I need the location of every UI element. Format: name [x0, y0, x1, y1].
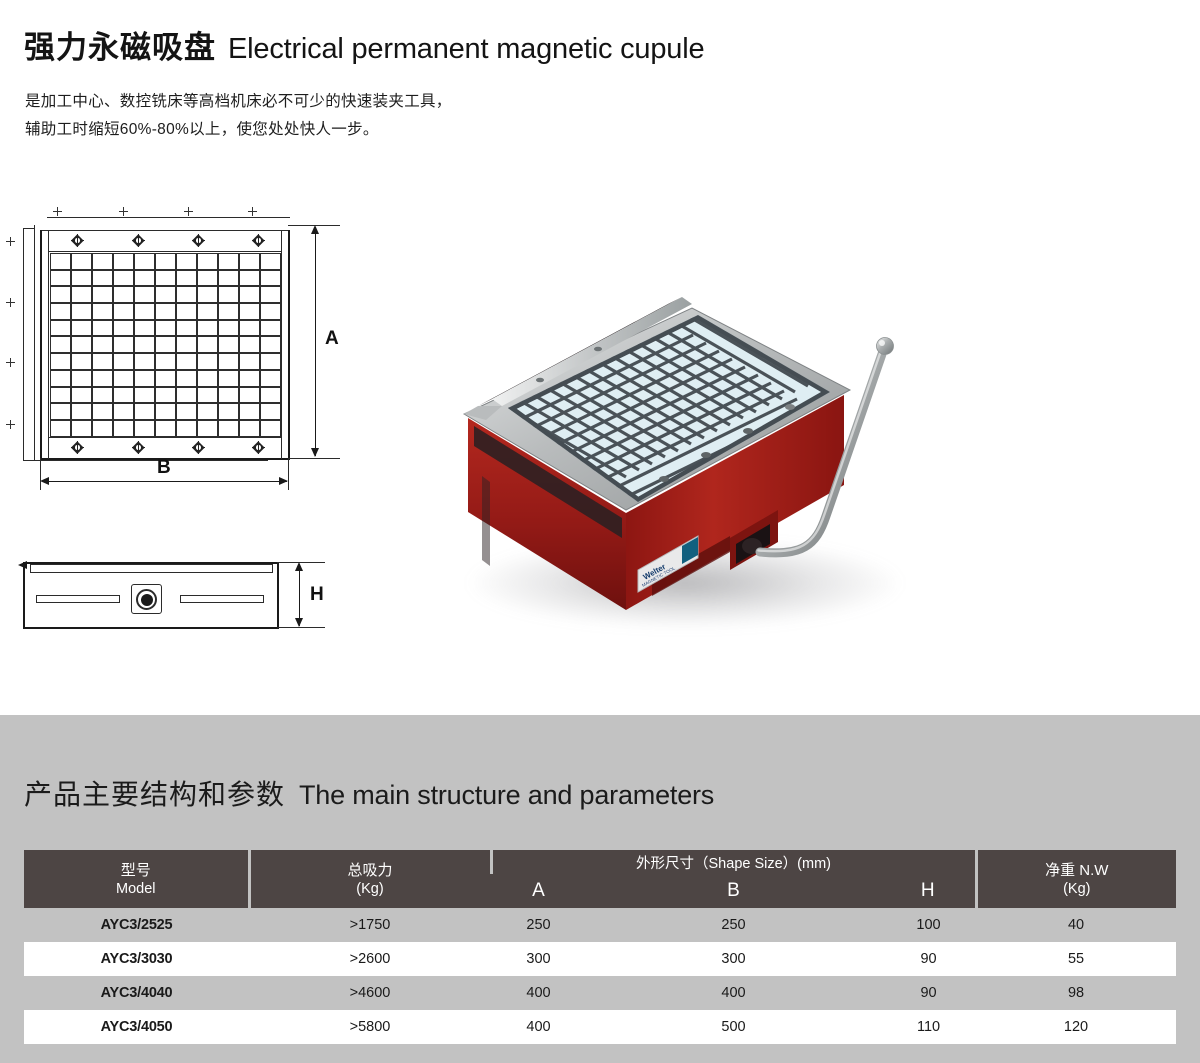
dimension-label-b: B: [157, 457, 171, 479]
page-subtitle: 是加工中心、数控铣床等高档机床必不可少的快速装夹工具， 辅助工时缩短60%-80…: [25, 88, 452, 144]
bolt-marker-icon: [252, 234, 265, 247]
header-model-cn: 型号: [24, 861, 248, 880]
parameters-section: 产品主要结构和参数The main structure and paramete…: [0, 715, 1200, 1063]
cell-force: >2600: [249, 942, 491, 976]
cell-force: >1750: [249, 908, 491, 942]
cell-dim-h: 100: [881, 908, 976, 942]
cell-dim-b: 300: [586, 942, 881, 976]
header-weight-cn: 净重 N.W: [978, 861, 1177, 880]
page-title: 强力永磁吸盘Electrical permanent magnetic cupu…: [24, 22, 704, 67]
dimension-arrow-up-icon: [295, 562, 303, 571]
bolt-marker-icon: [132, 234, 145, 247]
tick-marker-icon: [6, 358, 15, 367]
table-row: AYC3/2525 >1750 250 250 100 40: [24, 908, 1176, 942]
cell-force: >5800: [249, 1010, 491, 1044]
table-header-row: 型号 Model 总吸力 (Kg) 外形尺寸（Shape Size）(mm) 净…: [24, 850, 1176, 874]
cell-dim-b: 250: [586, 908, 881, 942]
bolt-marker-icon: [252, 441, 265, 454]
tick-marker-icon: [6, 420, 15, 429]
bolt-marker-icon: [192, 234, 205, 247]
dimension-label-a: A: [325, 328, 339, 350]
dimension-arrow-right-icon: [279, 477, 288, 485]
cell-dim-b: 500: [586, 1010, 881, 1044]
tick-marker-icon: [184, 207, 193, 216]
bolt-marker-icon: [71, 234, 84, 247]
header-model-en: Model: [24, 880, 248, 898]
tick-marker-icon: [6, 237, 15, 246]
side-view-pointer-icon: [18, 561, 27, 569]
cell-force: >4600: [249, 976, 491, 1010]
header-dim-a: A: [491, 874, 586, 908]
header-dim-h: H: [881, 874, 976, 908]
side-view-top-strip: [30, 564, 273, 573]
dimension-arrow-left-icon: [40, 477, 49, 485]
header-total-force: 总吸力 (Kg): [249, 850, 491, 908]
page-title-cn: 强力永磁吸盘: [24, 30, 216, 65]
pole-grid: [50, 253, 281, 437]
cell-model: AYC3/4040: [24, 976, 249, 1010]
tick-marker-icon: [248, 207, 257, 216]
cell-dim-b: 400: [586, 976, 881, 1010]
cell-model: AYC3/3030: [24, 942, 249, 976]
header-model: 型号 Model: [24, 850, 249, 908]
technical-drawing: A B H: [0, 195, 380, 665]
cell-model: AYC3/2525: [24, 908, 249, 942]
page-title-en: Electrical permanent magnetic cupule: [228, 33, 704, 65]
cell-dim-a: 300: [491, 942, 586, 976]
bolt-marker-icon: [71, 441, 84, 454]
cell-dim-a: 400: [491, 976, 586, 1010]
section-title: 产品主要结构和参数The main structure and paramete…: [24, 773, 714, 813]
cell-dim-a: 400: [491, 1010, 586, 1044]
table-body: AYC3/2525 >1750 250 250 100 40 AYC3/3030…: [24, 908, 1176, 1044]
cell-model: AYC3/4050: [24, 1010, 249, 1044]
cell-dim-h: 90: [881, 942, 976, 976]
cell-weight: 98: [976, 976, 1176, 1010]
cell-weight: 55: [976, 942, 1176, 976]
table-row: AYC3/4050 >5800 400 500 110 120: [24, 1010, 1176, 1044]
product-illustration: Welter MAGNETIC TOOL: [430, 280, 1070, 680]
knob-dot-icon: [141, 594, 153, 606]
header-weight-unit: (Kg): [978, 880, 1177, 898]
cell-weight: 120: [976, 1010, 1176, 1044]
cell-weight: 40: [976, 908, 1176, 942]
header-force-unit: (Kg): [251, 880, 490, 898]
header-shape-size-label: 外形尺寸（Shape Size）(mm): [493, 855, 975, 874]
subtitle-line-2: 辅助工时缩短60%-80%以上，使您处处快人一步。: [25, 116, 452, 144]
header-shape-size-group: 外形尺寸（Shape Size）(mm): [491, 850, 976, 874]
dimension-label-h: H: [310, 584, 324, 606]
section-title-cn: 产品主要结构和参数: [24, 779, 285, 810]
bolt-marker-icon: [192, 441, 205, 454]
header-net-weight: 净重 N.W (Kg): [976, 850, 1176, 908]
table-row: AYC3/3030 >2600 300 300 90 55: [24, 942, 1176, 976]
bolt-marker-icon: [132, 441, 145, 454]
header-dim-b: B: [586, 874, 881, 908]
tick-marker-icon: [6, 298, 15, 307]
dimension-arrow-up-icon: [311, 225, 319, 234]
drawing-top-view: A B: [0, 195, 340, 485]
drawing-side-view: H: [0, 550, 340, 660]
dimension-arrow-down-icon: [295, 618, 303, 627]
section-title-en: The main structure and parameters: [299, 780, 714, 810]
table-row: AYC3/4040 >4600 400 400 90 98: [24, 976, 1176, 1010]
tick-marker-icon: [119, 207, 128, 216]
header-force-cn: 总吸力: [251, 861, 490, 880]
tick-marker-icon: [53, 207, 62, 216]
cell-dim-h: 90: [881, 976, 976, 1010]
side-view-slot-right: [180, 595, 264, 603]
specifications-table: 型号 Model 总吸力 (Kg) 外形尺寸（Shape Size）(mm) 净…: [24, 850, 1176, 1044]
subtitle-line-1: 是加工中心、数控铣床等高档机床必不可少的快速装夹工具，: [25, 88, 452, 116]
cell-dim-a: 250: [491, 908, 586, 942]
cell-dim-h: 110: [881, 1010, 976, 1044]
side-view-slot-left: [36, 595, 120, 603]
product-photo: Welter MAGNETIC TOOL: [430, 280, 1070, 680]
dimension-arrow-down-icon: [311, 448, 319, 457]
